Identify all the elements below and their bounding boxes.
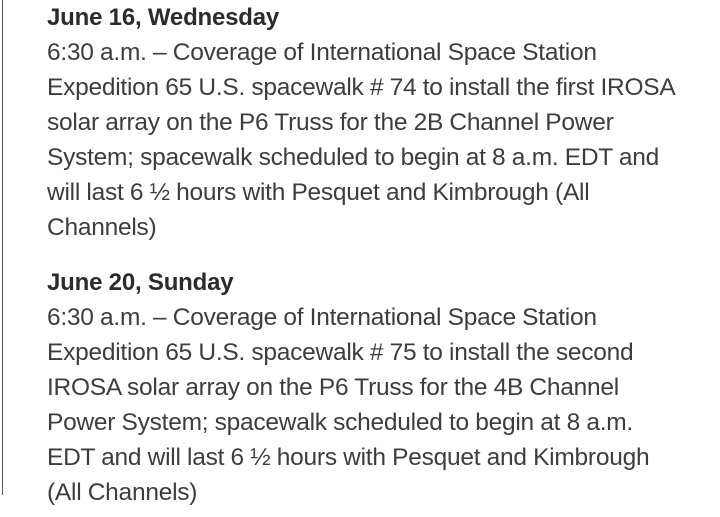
schedule-document: June 16, Wednesday 6:30 a.m. – Coverage … — [0, 0, 720, 517]
schedule-entry: June 16, Wednesday 6:30 a.m. – Coverage … — [47, 0, 687, 245]
entry-description: 6:30 a.m. – Coverage of International Sp… — [47, 35, 687, 245]
entry-description: 6:30 a.m. – Coverage of International Sp… — [47, 300, 687, 510]
schedule-entry: June 20, Sunday 6:30 a.m. – Coverage of … — [47, 265, 687, 510]
schedule-entry-list: June 16, Wednesday 6:30 a.m. – Coverage … — [47, 0, 687, 510]
entry-date-heading: June 16, Wednesday — [47, 0, 687, 35]
left-margin-rule — [2, 0, 3, 495]
entry-date-heading: June 20, Sunday — [47, 265, 687, 300]
